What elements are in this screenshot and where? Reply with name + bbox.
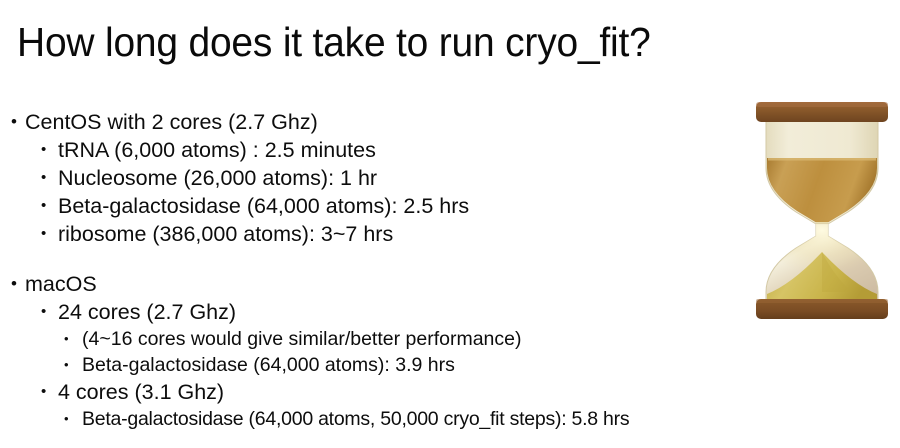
- page-title: How long does it take to run cryo_fit?: [17, 17, 651, 67]
- list-item: • (4~16 cores would give similar/better …: [0, 326, 740, 352]
- list-item: • CentOS with 2 cores (2.7 Ghz): [0, 108, 740, 136]
- bullet-marker: •: [11, 108, 17, 136]
- bullet-marker: •: [41, 192, 46, 220]
- bullet-marker: •: [41, 164, 46, 192]
- list-item-label: 4 cores (3.1 Ghz): [58, 378, 224, 406]
- list-item-label: Beta-galactosidase (64,000 atoms, 50,000…: [82, 406, 629, 432]
- list-item-label: tRNA (6,000 atoms) : 2.5 minutes: [58, 136, 376, 164]
- list-gap: [0, 248, 740, 270]
- bullet-marker: •: [64, 406, 68, 432]
- hourglass-icon: [752, 96, 892, 324]
- bullet-marker: •: [11, 270, 17, 298]
- bullet-marker: •: [64, 326, 69, 352]
- list-item-label: Beta-galactosidase (64,000 atoms): 3.9 h…: [82, 352, 455, 378]
- list-item: • macOS: [0, 270, 740, 298]
- list-item: • tRNA (6,000 atoms) : 2.5 minutes: [0, 136, 740, 164]
- bullet-marker: •: [41, 136, 46, 164]
- list-item-label: 24 cores (2.7 Ghz): [58, 298, 236, 326]
- list-item: • 4 cores (3.1 Ghz): [0, 378, 740, 406]
- list-item-label: (4~16 cores would give similar/better pe…: [82, 326, 521, 352]
- list-item: • Beta-galactosidase (64,000 atoms): 3.9…: [0, 352, 740, 378]
- list-item-label: Nucleosome (26,000 atoms): 1 hr: [58, 164, 377, 192]
- list-item-label: Beta-galactosidase (64,000 atoms): 2.5 h…: [58, 192, 469, 220]
- list-item-label: CentOS with 2 cores (2.7 Ghz): [25, 108, 318, 136]
- list-item-label: ribosome (386,000 atoms): 3~7 hrs: [58, 220, 393, 248]
- bullet-marker: •: [41, 378, 46, 406]
- list-item: • ribosome (386,000 atoms): 3~7 hrs: [0, 220, 740, 248]
- bullet-marker: •: [41, 220, 46, 248]
- bullet-marker: •: [64, 352, 69, 378]
- bullet-list: • CentOS with 2 cores (2.7 Ghz) • tRNA (…: [0, 108, 740, 432]
- slide: How long does it take to run cryo_fit? •…: [0, 0, 900, 448]
- bullet-marker: •: [41, 298, 46, 326]
- list-item: • Beta-galactosidase (64,000 atoms, 50,0…: [0, 406, 740, 432]
- list-item: • Nucleosome (26,000 atoms): 1 hr: [0, 164, 740, 192]
- list-item: • Beta-galactosidase (64,000 atoms): 2.5…: [0, 192, 740, 220]
- list-item-label: macOS: [25, 270, 97, 298]
- list-item: • 24 cores (2.7 Ghz): [0, 298, 740, 326]
